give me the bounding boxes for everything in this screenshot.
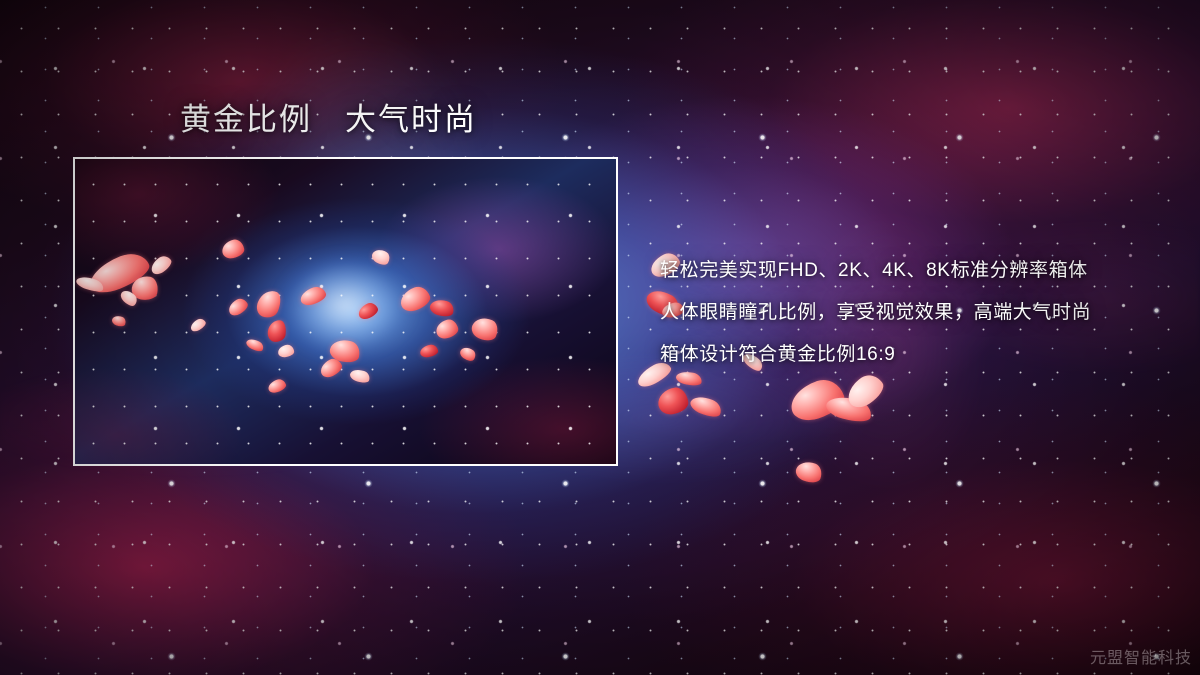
petal [434, 318, 460, 341]
petal [220, 238, 245, 260]
petal [245, 337, 266, 354]
watermark: 元盟智能科技 [1090, 644, 1192, 668]
body-text-line-2: 人体眼睛瞳孔比例，享受视觉效果，高端大气时尚 [660, 299, 1091, 341]
petal [226, 296, 250, 318]
petal [277, 344, 295, 358]
petal [458, 345, 478, 364]
body-text-line-3: 箱体设计符合黄金比例16:9 [660, 341, 1091, 383]
petal [370, 246, 393, 267]
petal [267, 319, 288, 343]
petal [189, 317, 208, 334]
petal [254, 287, 285, 321]
petal [469, 314, 502, 345]
petal [75, 274, 105, 294]
petal [111, 314, 128, 328]
petal-group-panel [73, 157, 618, 466]
petal [85, 247, 154, 298]
petal [318, 356, 345, 380]
body-text-line-1: 轻松完美实现FHD、2K、4K、8K标准分辨率箱体 [660, 257, 1091, 299]
petal [148, 253, 174, 277]
petal [267, 378, 288, 395]
petal [824, 392, 874, 425]
petal [397, 284, 433, 315]
petal [419, 344, 439, 359]
petal [130, 274, 160, 302]
presentation-slide: 黄金比例 大气时尚 轻松完美实现FHD、2K、4K、8K标准分辨率箱体 人体眼睛… [0, 0, 1200, 675]
framed-image-panel [73, 157, 618, 466]
petal [118, 287, 139, 308]
petal [349, 367, 372, 385]
petal [793, 458, 824, 486]
slide-title: 黄金比例 大气时尚 [180, 101, 477, 140]
petal [656, 386, 689, 416]
petal [298, 284, 328, 307]
petal [328, 337, 362, 366]
petal [428, 297, 455, 319]
petal [356, 301, 380, 322]
petal [688, 393, 724, 421]
body-text-block: 轻松完美实现FHD、2K、4K、8K标准分辨率箱体 人体眼睛瞳孔比例，享受视觉效… [660, 257, 1091, 383]
